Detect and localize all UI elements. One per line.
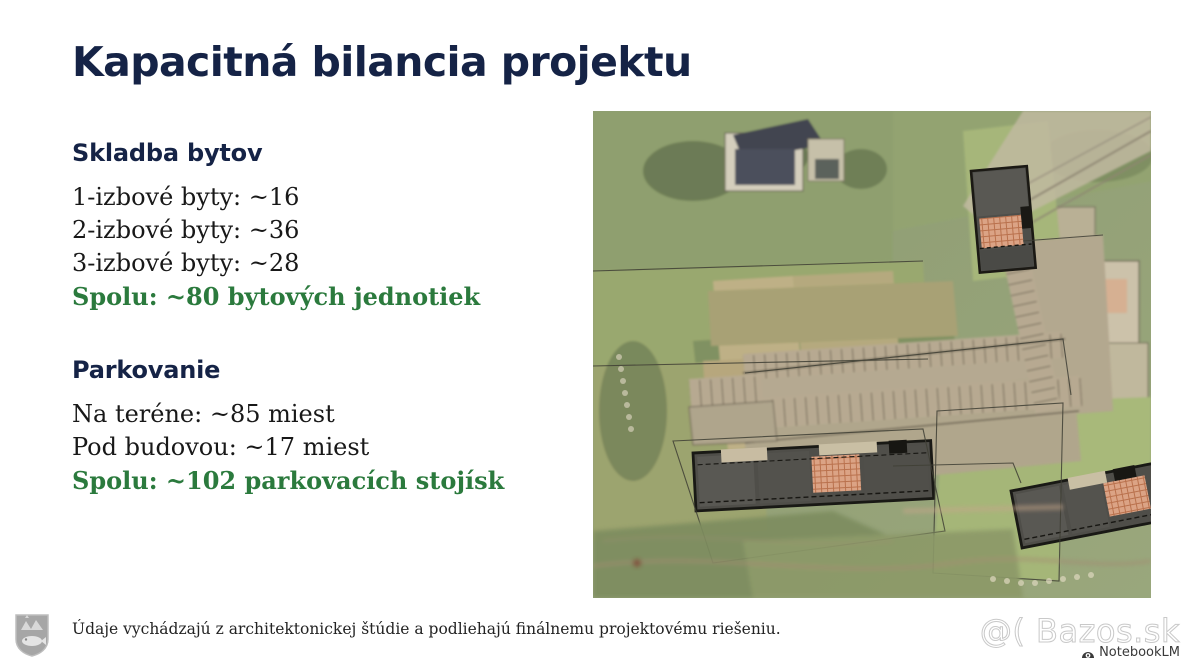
site-plan-aerial-icon	[593, 111, 1151, 598]
section-skladba-bytov: Skladba bytov 1-izbové byty: ~16 2-izbov…	[72, 140, 572, 313]
watermark: @( Bazos.sk NotebookLM	[978, 612, 1188, 662]
stat-line: Pod budovou: ~17 miest	[72, 431, 572, 464]
section-parkovanie: Parkovanie Na teréne: ~85 miest Pod budo…	[72, 357, 572, 497]
stat-line: Na teréne: ~85 miest	[72, 398, 572, 431]
footer-logo	[12, 612, 52, 658]
stat-line: 3-izbové byty: ~28	[72, 247, 572, 280]
stat-total: Spolu: ~102 parkovacích stojísk	[72, 464, 572, 497]
notebooklm-label: NotebookLM	[1099, 645, 1180, 660]
slide-root: Kapacitná bilancia projektu Skladba byto…	[0, 0, 1200, 667]
notebooklm-watermark: NotebookLM	[1081, 645, 1180, 660]
site-plan-image	[593, 111, 1151, 598]
footer-note: Údaje vychádzajú z architektonickej štúd…	[72, 620, 781, 638]
notebooklm-icon	[1081, 646, 1095, 660]
municipal-coat-of-arms-icon	[12, 612, 52, 658]
section-heading: Parkovanie	[72, 357, 572, 385]
stat-line: 2-izbové byty: ~36	[72, 214, 572, 247]
stat-line: 1-izbové byty: ~16	[72, 181, 572, 214]
stat-total: Spolu: ~80 bytových jednotiek	[72, 280, 572, 313]
content-column: Skladba bytov 1-izbové byty: ~16 2-izbov…	[72, 140, 572, 497]
section-heading: Skladba bytov	[72, 140, 572, 168]
bazos-watermark: @( Bazos.sk	[980, 612, 1180, 650]
page-title: Kapacitná bilancia projektu	[72, 38, 692, 86]
